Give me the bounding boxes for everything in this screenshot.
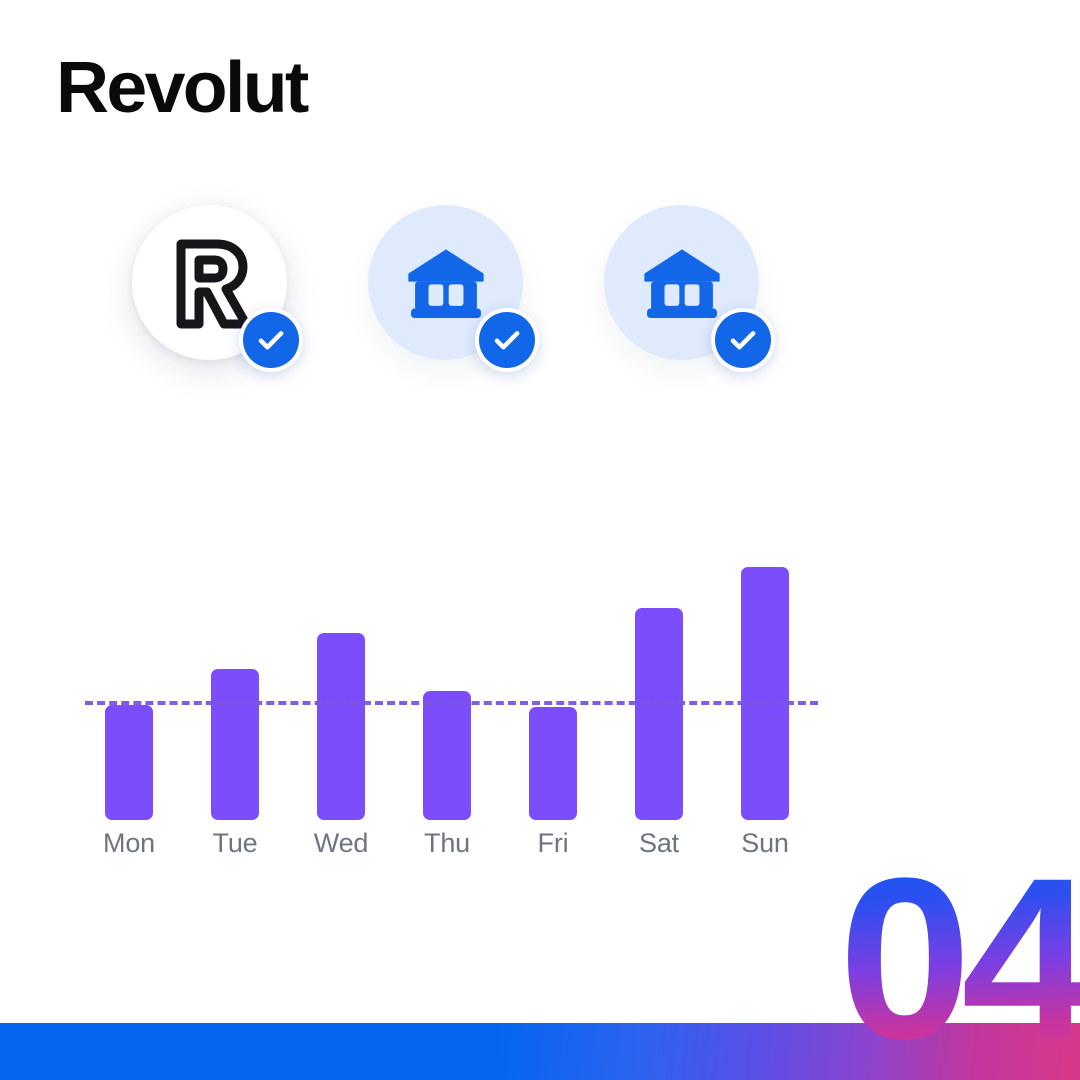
check-icon [715, 312, 771, 368]
average-reference-line [85, 701, 818, 705]
chart-bar[interactable] [105, 705, 153, 821]
account-badge-bank-1[interactable] [368, 205, 523, 360]
chart-x-label: Fri [505, 828, 601, 859]
promo-card: Revolut [0, 0, 1080, 1080]
chart-x-label: Sun [717, 828, 813, 859]
chart-x-label: Wed [293, 828, 389, 859]
brand-wordmark: Revolut [56, 52, 307, 124]
chart-x-label: Sat [611, 828, 707, 859]
verified-badge [711, 308, 775, 372]
verified-accounts-row [132, 205, 812, 405]
chart-bar[interactable] [741, 567, 789, 820]
verified-badge [239, 308, 303, 372]
chart-bar[interactable] [423, 691, 471, 820]
chart-bar[interactable] [211, 669, 259, 820]
account-badge-revolut[interactable] [132, 205, 287, 360]
weekly-activity-chart: MonTueWedThuFriSatSun [85, 545, 825, 885]
check-icon [243, 312, 299, 368]
chart-bar[interactable] [317, 633, 365, 820]
chart-bar[interactable] [635, 608, 683, 820]
account-badge-bank-2[interactable] [604, 205, 759, 360]
verified-badge [475, 308, 539, 372]
chart-x-label: Mon [81, 828, 177, 859]
bank-icon [639, 240, 725, 326]
step-number: 04 [839, 844, 1080, 1074]
chart-x-label: Thu [399, 828, 495, 859]
revolut-r-icon [167, 238, 253, 330]
chart-bar[interactable] [529, 707, 577, 820]
check-icon [479, 312, 535, 368]
chart-x-axis: MonTueWedThuFriSatSun [85, 828, 825, 868]
chart-plot-area [85, 545, 825, 820]
chart-x-label: Tue [187, 828, 283, 859]
bank-icon [403, 240, 489, 326]
